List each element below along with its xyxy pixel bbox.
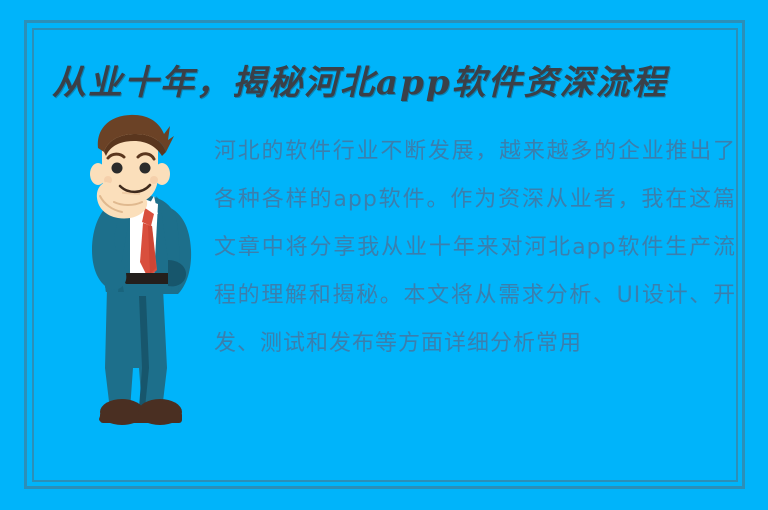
eye-left-icon	[112, 163, 123, 174]
article-banner: 从业十年，揭秘河北app软件资深流程 河北的软件行业不断发展，越来越多的企业推出…	[0, 0, 768, 510]
page-title: 从业十年，揭秘河北app软件资深流程	[52, 56, 722, 110]
article-paragraph: 河北的软件行业不断发展，越来越多的企业推出了各种各样的app软件。作为资深从业者…	[214, 128, 736, 368]
businessman-thinking-illustration	[50, 110, 215, 430]
article-body: 河北的软件行业不断发展，越来越多的企业推出了各种各样的app软件。作为资深从业者…	[214, 128, 736, 428]
trousers-icon	[105, 288, 167, 410]
belt-icon	[125, 273, 173, 284]
shoe-right-sole-icon	[138, 412, 182, 423]
shoe-left-sole-icon	[100, 412, 144, 423]
cheek-right-icon	[150, 176, 158, 184]
eye-right-icon	[140, 163, 151, 174]
